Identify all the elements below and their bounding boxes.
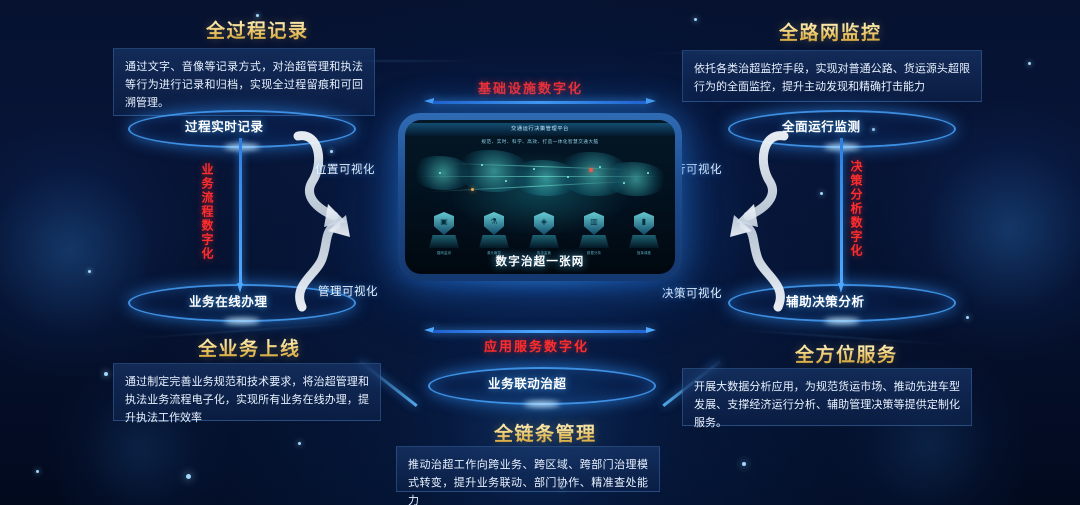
module-icon-1[interactable]: ⚗ 源头管控 [477, 212, 511, 248]
star-particle [186, 474, 191, 479]
node-label-process-realtime-record: 过程实时记录 [185, 116, 264, 135]
section-title-road-network: 全路网监控 [779, 18, 882, 45]
section-title-all-round-service: 全方位服务 [795, 340, 898, 367]
arc-arrow-management-visual [288, 215, 360, 315]
node-label-overall-operation-monitor: 全面运行监测 [782, 116, 861, 135]
node-label-decision-support-analysis: 辅助决策分析 [786, 291, 865, 310]
star-particle [88, 270, 91, 273]
star-particle [694, 18, 697, 21]
section-title-all-business-online: 全业务上线 [198, 334, 301, 361]
module-icon-3[interactable]: ▥ 数据分析 [577, 212, 611, 248]
chart-icon: ▥ [584, 218, 604, 226]
shield-icon: ◈ [534, 218, 554, 226]
module-icon-4[interactable]: ▮ 指挥调度 [627, 212, 661, 248]
star-particle [820, 192, 823, 195]
section-desc-process-record: 通过文字、音像等记录方式，对治超管理和执法等行为进行记录和归档，实现全过程留痕和… [113, 48, 375, 116]
device-screen: 交通运行决策管理平台 规范、实时、科学、高效、打造一体化智慧交通大脑 [405, 120, 675, 274]
star-particle [1028, 62, 1031, 65]
star-particle [742, 462, 746, 466]
axis-label-infrastructure-digital: 基础设施数字化 [478, 78, 583, 97]
double-arrow-bottom [424, 327, 656, 334]
flow-arrow-left [237, 138, 244, 293]
screen-map-visualization [409, 146, 671, 210]
screen-subtitle: 规范、实时、科学、高效、打造一体化智慧交通大脑 [405, 139, 675, 145]
node-label-business-linkage: 业务联动治超 [488, 373, 567, 392]
star-particle [966, 316, 969, 319]
star-particle [36, 470, 39, 473]
axis-label-business-process-digital: 业务流程数字化 [199, 163, 216, 261]
arc-label-position-visualization: 位置可视化 [315, 161, 375, 177]
section-desc-road-network: 依托各类治超监控手段，实现对普通公路、货运源头超限行为的全面监控，提升主动发现和… [682, 50, 982, 102]
node-label-online-business: 业务在线办理 [189, 291, 268, 310]
network-icon: ⚗ [484, 218, 504, 226]
section-desc-all-business-online: 通过制定完善业务规范和技术要求，将治超管理和执法业务流程电子化，实现所有业务在线… [113, 363, 381, 421]
axis-label-decision-analysis-digital: 决策分析数字化 [848, 160, 865, 258]
mic-icon: ▮ [634, 218, 654, 226]
section-desc-all-round-service: 开展大数据分析应用，为规范货运市场、推动先进车型发展、支撑经济运行分析、辅助管理… [682, 368, 972, 426]
ambient-glow-left [0, 120, 200, 380]
arc-label-management-visualization: 管理可视化 [318, 283, 378, 299]
arc-arrow-decision-visual [720, 215, 792, 315]
star-particle [104, 372, 108, 376]
section-title-full-chain: 全链条管理 [494, 419, 597, 446]
screen-caption: 数字治超一张网 [405, 253, 675, 269]
section-desc-full-chain: 推动治超工作向跨业务、跨区域、跨部门治理模式转变，提升业务联动、部门协作、精准查… [396, 446, 660, 492]
star-particle [298, 442, 301, 445]
flow-arrow-right [838, 138, 845, 293]
central-display-device: 交通运行决策管理平台 规范、实时、科学、高效、打造一体化智慧交通大脑 [398, 113, 682, 281]
axis-label-application-service-digital: 应用服务数字化 [484, 336, 589, 355]
image-icon: ▣ [434, 218, 454, 226]
section-title-process-record: 全过程记录 [206, 16, 309, 43]
double-arrow-top [424, 98, 656, 105]
infographic-canvas: 全过程记录 通过文字、音像等记录方式，对治超管理和执法等行为进行记录和归档，实现… [0, 0, 1080, 505]
screen-title: 交通运行决策管理平台 [405, 123, 675, 136]
module-icon-2[interactable]: ◈ 执法监管 [527, 212, 561, 248]
module-icon-0[interactable]: ▣ 路网监测 [427, 212, 461, 248]
